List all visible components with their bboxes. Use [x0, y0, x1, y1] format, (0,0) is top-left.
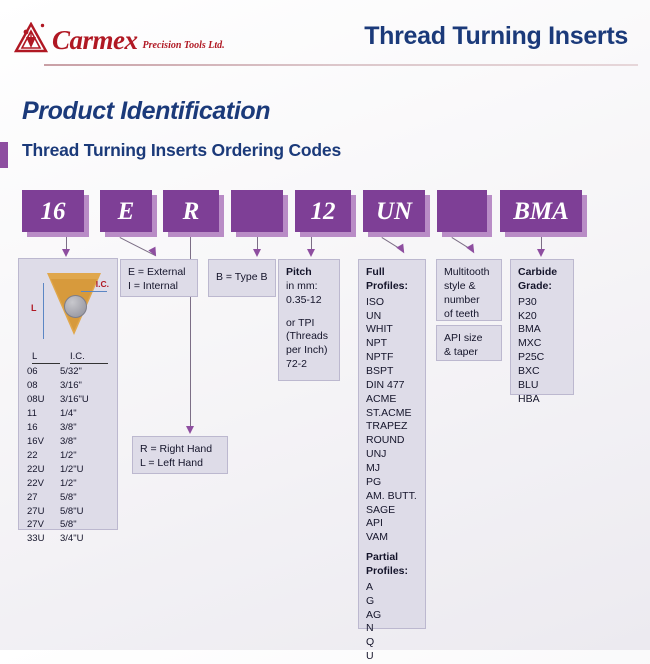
section-title: Product Identification	[22, 97, 270, 126]
cell-l: 27	[27, 491, 60, 505]
code-box-type[interactable]	[231, 190, 283, 232]
grade-item: BMA	[518, 323, 566, 337]
pitch-range-mm: 0.35-12	[286, 294, 332, 308]
pitch-range-tpi: 72-2	[286, 358, 332, 372]
connector-arrow-type	[253, 249, 261, 257]
table-row: 22U1/2"U	[27, 463, 111, 477]
table-row: 22V1/2"	[27, 477, 111, 491]
table-header-l: L	[32, 351, 60, 364]
table-header-row: L I.C.	[27, 351, 111, 364]
profile-item: DIN 477	[366, 379, 418, 393]
profile-item: ACME	[366, 393, 418, 407]
cell-ic: 3/8"	[60, 435, 108, 449]
grade-item: BXC	[518, 365, 566, 379]
table-row: 275/8"	[27, 491, 111, 505]
cell-l: 22	[27, 449, 60, 463]
profiles-box: Full Profiles: ISO UN WHIT NPT NPTF BSPT…	[358, 259, 426, 629]
dimension-line-vertical	[43, 283, 44, 339]
code-box-external[interactable]: E	[100, 190, 152, 232]
code-box-profile-label: UN	[376, 199, 412, 224]
insert-size-table: L I.C. 065/32" 083/16" 08U3/16"U 111/4" …	[27, 351, 111, 546]
table-header-ic: I.C.	[70, 351, 108, 364]
grade-item: BLU	[518, 379, 566, 393]
cell-l: 27U	[27, 505, 60, 519]
brand-name: Carmex	[52, 27, 138, 54]
grade-item: K20	[518, 310, 566, 324]
profile-item: UNJ	[366, 448, 418, 462]
carbide-title-2: Grade:	[518, 280, 566, 294]
code-box-hand-label: R	[183, 199, 200, 224]
code-box-multitooth[interactable]	[437, 190, 487, 232]
api-box: API size & taper	[436, 325, 502, 361]
header-divider	[44, 64, 638, 66]
carmex-logo: Carmex Precision Tools Ltd.	[14, 22, 225, 54]
cell-l: 16	[27, 421, 60, 435]
multitooth-line-3: number	[444, 294, 494, 308]
section-subtitle: Thread Turning Inserts Ordering Codes	[22, 140, 341, 161]
code-box-profile[interactable]: UN	[363, 190, 425, 232]
cell-ic: 1/2"	[60, 477, 108, 491]
connector-arrow-size	[62, 249, 70, 257]
cell-l: 22U	[27, 463, 60, 477]
multitooth-line-2: style &	[444, 280, 494, 294]
profile-item: BSPT	[366, 365, 418, 379]
cell-l: 06	[27, 365, 60, 379]
profile-item: ISO	[366, 296, 418, 310]
code-box-grade[interactable]: BMA	[500, 190, 582, 232]
cell-ic: 3/8"	[60, 421, 108, 435]
table-row: 27V5/8"	[27, 518, 111, 532]
type-line: B = Type B	[216, 271, 267, 285]
profile-item: VAM	[366, 531, 418, 545]
insert-dimension-card: I.C. L L I.C. 065/32" 083/16" 08U3/16"U …	[18, 258, 118, 530]
profile-item: ROUND	[366, 434, 418, 448]
document-page: Carmex Precision Tools Ltd. Thread Turni…	[0, 0, 650, 650]
profile-item: AM. BUTT.	[366, 490, 418, 504]
multitooth-line-1: Multitooth	[444, 266, 494, 280]
type-box: B = Type B	[208, 259, 276, 297]
multitooth-line-4: of teeth	[444, 308, 494, 322]
cell-ic: 1/2"	[60, 449, 108, 463]
grade-item: P30	[518, 296, 566, 310]
cell-ic: 5/32"	[60, 365, 108, 379]
cell-ic: 3/4"U	[60, 532, 108, 546]
profile-item: SAGE	[366, 504, 418, 518]
partial-profiles-title-2: Profiles:	[366, 565, 418, 579]
profile-item: NPT	[366, 337, 418, 351]
document-header: Carmex Precision Tools Ltd. Thread Turni…	[0, 0, 650, 72]
table-row: 083/16"	[27, 379, 111, 393]
profile-item: NPTF	[366, 351, 418, 365]
code-box-size-label: 16	[41, 199, 66, 224]
direction-box: R = Right Hand L = Left Hand	[132, 436, 228, 474]
cell-ic: 3/16"U	[60, 393, 108, 407]
cell-ic: 5/8"U	[60, 505, 108, 519]
pitch-tpi-line2: (Threads	[286, 330, 332, 344]
carbide-title-1: Carbide	[518, 266, 566, 280]
table-row: 221/2"	[27, 449, 111, 463]
cell-l: 27V	[27, 518, 60, 532]
insert-screw-hole-icon	[64, 295, 87, 318]
code-box-pitch-label: 12	[311, 199, 336, 224]
carmex-triangle-logo-icon	[14, 22, 48, 54]
pitch-title: Pitch	[286, 266, 332, 280]
partial-profile-item: AG	[366, 609, 418, 623]
connector-arrow-grade	[537, 249, 545, 257]
code-box-external-label: E	[118, 199, 135, 224]
profile-item: MJ	[366, 462, 418, 476]
cell-ic: 5/8"	[60, 518, 108, 532]
cell-ic: 3/16"	[60, 379, 108, 393]
pitch-tpi-line3: per Inch)	[286, 344, 332, 358]
grade-item: HBA	[518, 393, 566, 407]
grade-item: P25C	[518, 351, 566, 365]
cell-ic: 5/8"	[60, 491, 108, 505]
table-row: 111/4"	[27, 407, 111, 421]
profile-item: WHIT	[366, 323, 418, 337]
page-title: Thread Turning Inserts	[364, 22, 628, 51]
cell-l: 22V	[27, 477, 60, 491]
code-box-size[interactable]: 16	[22, 190, 84, 232]
carbide-grade-box: Carbide Grade: P30 K20 BMA MXC P25C BXC …	[510, 259, 574, 395]
partial-profile-item: U	[366, 650, 418, 664]
dimension-line-horizontal	[81, 291, 107, 292]
multitooth-box: Multitooth style & number of teeth	[436, 259, 502, 321]
profile-item: UN	[366, 310, 418, 324]
api-line-2: & taper	[444, 346, 494, 360]
cell-l: 33U	[27, 532, 60, 546]
partial-profiles-title-1: Partial	[366, 551, 418, 565]
internal-line: I = Internal	[128, 280, 190, 294]
table-row: 065/32"	[27, 365, 111, 379]
dimension-label-ic: I.C.	[96, 279, 109, 289]
code-box-hand[interactable]: R	[163, 190, 219, 232]
pitch-tpi-line1: or TPI	[286, 317, 332, 331]
cell-l: 08	[27, 379, 60, 393]
profile-item: TRAPEZ	[366, 420, 418, 434]
connector-arrow-pitch	[307, 249, 315, 257]
left-hand-line: L = Left Hand	[140, 457, 220, 471]
table-row: 08U3/16"U	[27, 393, 111, 407]
cell-ic: 1/2"U	[60, 463, 108, 477]
right-hand-line: R = Right Hand	[140, 443, 220, 457]
table-row: 27U5/8"U	[27, 505, 111, 519]
full-profiles-title-2: Profiles:	[366, 280, 418, 294]
section-accent-tab	[0, 142, 8, 168]
profile-item: PG	[366, 476, 418, 490]
full-profiles-title-1: Full	[366, 266, 418, 280]
api-line-1: API size	[444, 332, 494, 346]
pitch-unit-line: in mm:	[286, 280, 332, 294]
connector-arrow-hand	[186, 426, 194, 434]
cell-l: 08U	[27, 393, 60, 407]
connector-arrow-external	[148, 247, 159, 259]
table-row: 33U3/4"U	[27, 532, 111, 546]
connector-arrow-multitooth	[466, 244, 477, 256]
partial-profile-item: Q	[366, 636, 418, 650]
external-internal-box: E = External I = Internal	[120, 259, 198, 297]
profile-item: API	[366, 517, 418, 531]
pitch-box: Pitch in mm: 0.35-12 or TPI (Threads per…	[278, 259, 340, 381]
insert-illustration: I.C. L	[27, 267, 111, 345]
partial-profile-item: A	[366, 581, 418, 595]
code-box-grade-label: BMA	[513, 199, 569, 224]
grade-item: MXC	[518, 337, 566, 351]
partial-profile-item: N	[366, 622, 418, 636]
cell-l: 16V	[27, 435, 60, 449]
code-box-pitch[interactable]: 12	[295, 190, 351, 232]
profile-item: ST.ACME	[366, 407, 418, 421]
table-row: 16V3/8"	[27, 435, 111, 449]
cell-ic: 1/4"	[60, 407, 108, 421]
brand-tagline: Precision Tools Ltd.	[143, 40, 225, 51]
external-line: E = External	[128, 266, 190, 280]
table-row: 163/8"	[27, 421, 111, 435]
cell-l: 11	[27, 407, 60, 421]
dimension-label-l: L	[31, 303, 37, 313]
partial-profile-item: G	[366, 595, 418, 609]
connector-arrow-profile	[396, 244, 407, 256]
